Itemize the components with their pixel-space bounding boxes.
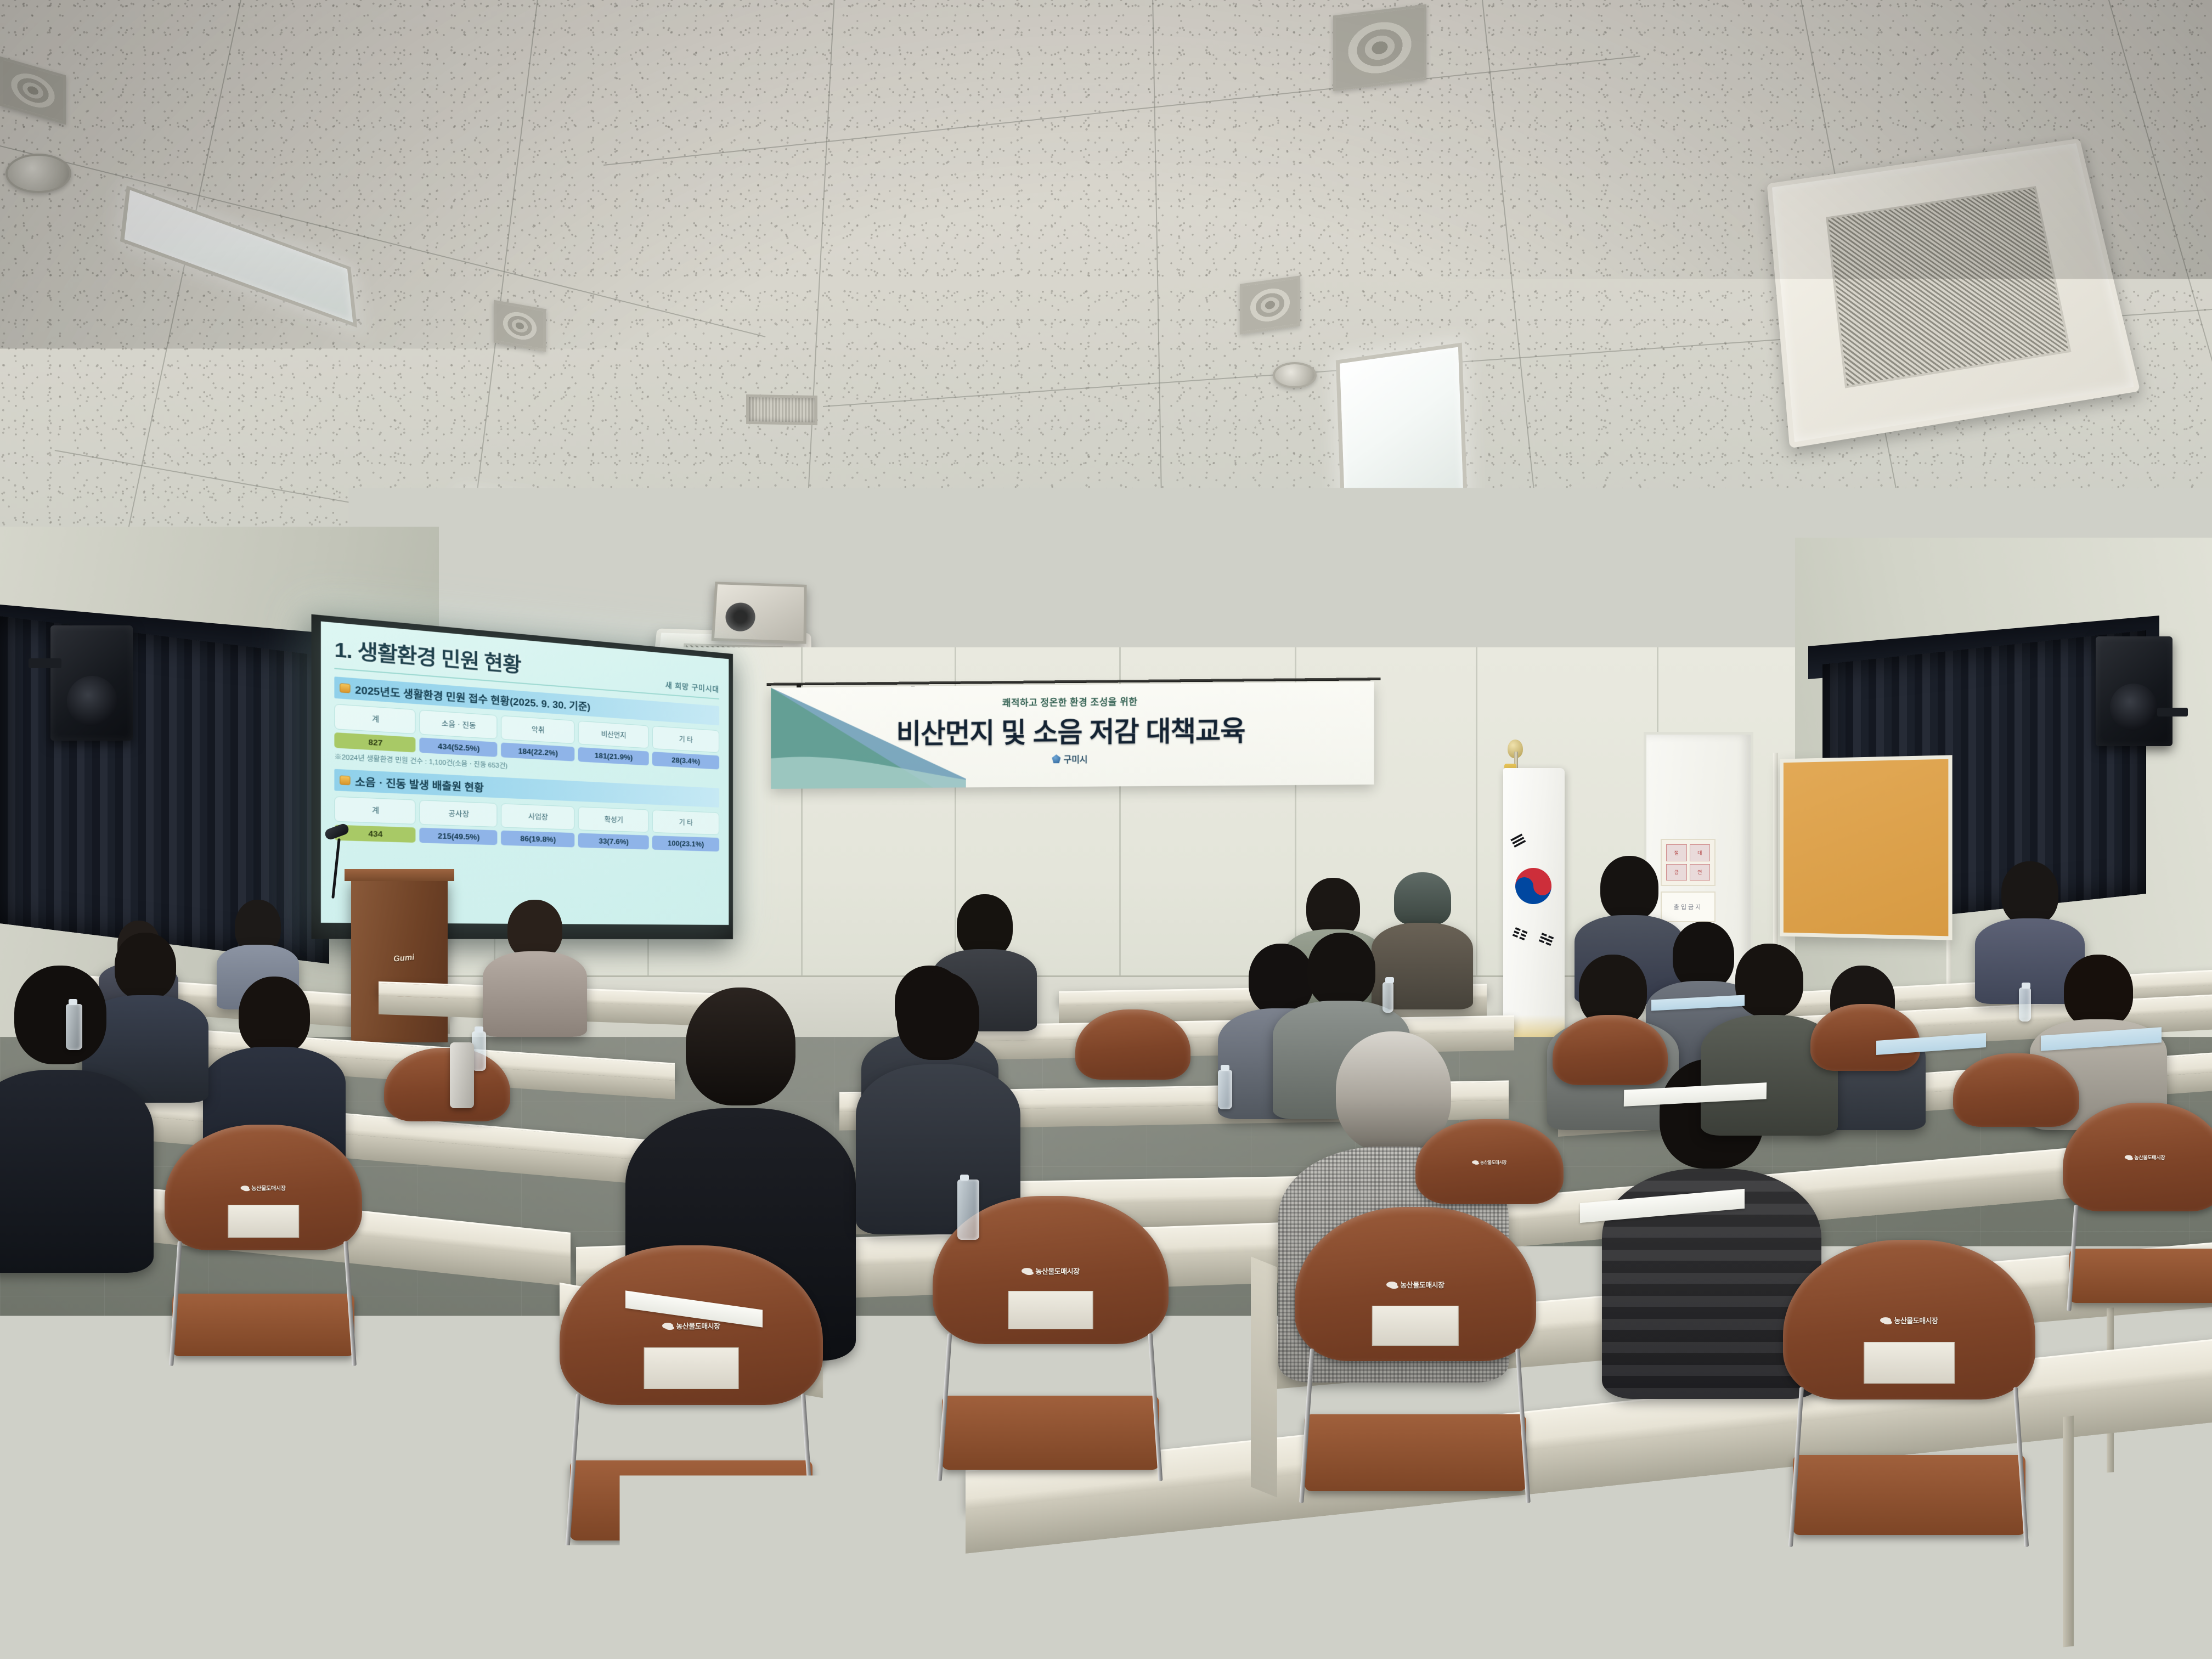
- chair-brand-logo: 농산물도매시장: [1022, 1266, 1079, 1276]
- ceiling-projector: [712, 582, 807, 644]
- chair[interactable]: [1553, 1015, 1668, 1125]
- person-torso: [0, 1070, 154, 1273]
- person-head: [2001, 861, 2058, 925]
- cell-value: 215(49.5%): [420, 828, 497, 845]
- attendee: [483, 900, 587, 1037]
- table-2-col-2: 사업장 86(19.8%): [501, 803, 575, 847]
- banner-text-block: 쾌적하고 정온한 환경 조성을 위한 비산먼지 및 소음 저감 대책교육 구미시: [771, 691, 1374, 768]
- person-head: [1307, 933, 1375, 1007]
- chair-brand-logo: 농산물도매시장: [241, 1184, 286, 1192]
- column-header: 사업장: [501, 803, 575, 830]
- person-torso: [483, 951, 587, 1037]
- ceiling-speaker: [1273, 362, 1317, 388]
- column-header: 비산먼지: [578, 721, 648, 749]
- chair[interactable]: 농산물도매시장: [1783, 1240, 2035, 1547]
- chair[interactable]: 농산물도매시장: [1415, 1119, 1564, 1256]
- ceiling-air-diffuser: [1333, 4, 1426, 92]
- person-head: [2064, 955, 2133, 1028]
- water-bottle[interactable]: [2019, 988, 2031, 1022]
- trigram-gon: [1512, 927, 1528, 942]
- podium: Gumi: [351, 878, 448, 1042]
- trigram-gam: [1538, 933, 1554, 947]
- ceiling-vent-grille: [746, 394, 817, 425]
- banner-organizer-label: 구미시: [1063, 752, 1087, 765]
- wholesale-market-icon: [1880, 1317, 1891, 1323]
- chair-seat: [1793, 1455, 2025, 1535]
- wholesale-market-icon: [1386, 1282, 1397, 1288]
- chair-seat: [172, 1294, 354, 1356]
- wholesale-market-icon: [1472, 1160, 1479, 1164]
- cell-value: 33(7.6%): [578, 833, 648, 849]
- chair-backrest: [1553, 1015, 1668, 1085]
- column-header: 기 타: [652, 810, 719, 835]
- chair-backrest: 농산물도매시장: [560, 1245, 823, 1405]
- chair-seat: [570, 1460, 812, 1541]
- column-header: 공사장: [420, 800, 497, 827]
- wholesale-market-icon: [241, 1186, 250, 1190]
- chair[interactable]: 농산물도매시장: [560, 1245, 823, 1553]
- table-2-col-0: 계 434: [334, 796, 416, 843]
- projector-lens: [725, 602, 756, 632]
- ceiling-light-fixture: [1336, 343, 1468, 524]
- section-2-header-text: 소음ㆍ진동 발생 배출원 현황: [355, 773, 484, 794]
- thermos-tumbler[interactable]: [450, 1042, 474, 1108]
- cell-value: 434(52.5%): [420, 737, 497, 757]
- chair-backrest: 농산물도매시장: [1415, 1119, 1564, 1204]
- trigram-geon: [1510, 834, 1526, 849]
- chair-seat: [942, 1396, 1159, 1470]
- chair[interactable]: 농산물도매시장: [2063, 1103, 2212, 1311]
- chair-brand-logo: 농산물도매시장: [1386, 1279, 1444, 1290]
- speaker-woofer: [67, 676, 117, 726]
- banner-title: 비산먼지 및 소음 저감 대책교육: [771, 708, 1374, 753]
- cell-value: 827: [334, 732, 416, 753]
- chair-backrest: [1953, 1053, 2079, 1127]
- table-1-col-1: 소음ㆍ진동 434(52.5%): [420, 710, 497, 757]
- chair-seat: [1305, 1414, 1527, 1491]
- chair-asset-sticker: [228, 1205, 299, 1237]
- person-head: [686, 988, 795, 1105]
- table-end-panel: [1251, 1256, 1277, 1497]
- chair-brand-text: 농산물도매시장: [676, 1321, 720, 1331]
- ac-grille: [1826, 186, 2072, 388]
- chair-brand-text: 농산물도매시장: [1400, 1279, 1444, 1290]
- table-2-col-1: 공사장 215(49.5%): [420, 800, 497, 845]
- sign-char-3: 연: [1690, 864, 1711, 881]
- chair-brand-logo: 농산물도매시장: [2125, 1154, 2165, 1161]
- chair[interactable]: [1810, 1004, 1920, 1108]
- table-1-col-3: 비산먼지 181(21.9%): [578, 721, 648, 766]
- banner-organizer: 구미시: [771, 749, 1374, 768]
- chair[interactable]: 농산물도매시장: [165, 1125, 362, 1366]
- cork-notice-board: [1780, 755, 1952, 940]
- chair-asset-sticker: [644, 1347, 739, 1389]
- table-1-col-4: 기 타 28(3.4%): [652, 726, 719, 770]
- chair-backrest: [1810, 1004, 1920, 1071]
- person-head: [507, 900, 562, 959]
- slide-title: 1. 생활환경 민원 현황: [334, 633, 521, 678]
- cell-value: 181(21.9%): [578, 747, 648, 765]
- table-leg: [2063, 1416, 2074, 1647]
- speaker-woofer: [2110, 684, 2157, 731]
- water-bottle[interactable]: [1383, 982, 1393, 1013]
- cell-value: 100(23.1%): [652, 836, 719, 851]
- bullet-icon: [340, 775, 350, 785]
- chair-brand-text: 농산물도매시장: [1035, 1266, 1079, 1276]
- attendee: [856, 971, 1020, 1234]
- column-header: 계: [334, 704, 416, 734]
- ceiling-speaker: [5, 154, 71, 193]
- speaker-bracket-right: [2157, 708, 2188, 716]
- cell-value: 184(22.2%): [501, 742, 575, 761]
- slide-logo: 새 희망 구미시대: [665, 679, 719, 694]
- wall-speaker-right: [2096, 636, 2172, 746]
- chair-backrest: [1075, 1009, 1190, 1080]
- table-leg: [1262, 1522, 1273, 1659]
- chair-brand-text: 농산물도매시장: [2135, 1154, 2165, 1161]
- water-bottle[interactable]: [1218, 1070, 1232, 1109]
- chair-brand-logo: 농산물도매시장: [1880, 1315, 1938, 1325]
- table-1-col-0: 계 827: [334, 704, 416, 753]
- person-head: [239, 977, 310, 1054]
- taeguk-symbol: [1515, 868, 1551, 904]
- podium-logo: Gumi: [393, 952, 415, 963]
- water-bottle[interactable]: [957, 1180, 979, 1240]
- wholesale-market-icon: [1022, 1268, 1032, 1274]
- wholesale-market-icon: [662, 1323, 673, 1329]
- person-head: [1735, 944, 1803, 1017]
- chair-backrest: [384, 1048, 510, 1121]
- cell-value: 28(3.4%): [652, 752, 719, 770]
- person-head: [897, 971, 979, 1060]
- wholesale-market-icon: [2125, 1155, 2132, 1160]
- chair-brand-text: 농산물도매시장: [251, 1184, 286, 1192]
- chair[interactable]: [1075, 1009, 1190, 1119]
- chair-asset-sticker: [1372, 1306, 1459, 1346]
- column-header: 계: [334, 796, 416, 825]
- sign-char-1: 대: [1690, 844, 1711, 861]
- chair-brand-logo: 농산물도매시장: [662, 1321, 720, 1331]
- person-head: [1600, 856, 1658, 921]
- person-head: [14, 966, 106, 1064]
- podium-top: [345, 869, 454, 881]
- water-bottle[interactable]: [66, 1004, 82, 1050]
- person-head: [957, 894, 1013, 958]
- person-head-cap: [1394, 872, 1451, 925]
- chair[interactable]: [384, 1048, 510, 1163]
- chair-backrest: 농산물도매시장: [165, 1125, 362, 1250]
- event-banner: 쾌적하고 정온한 환경 조성을 위한 비산먼지 및 소음 저감 대책교육 구미시: [771, 681, 1374, 789]
- chair-brand-text: 농산물도매시장: [1480, 1159, 1506, 1165]
- wall-speaker-left: [50, 625, 133, 741]
- chair-seat: [2069, 1249, 2212, 1303]
- chair-brand-text: 농산물도매시장: [1894, 1315, 1938, 1325]
- chair-backrest: 농산물도매시장: [1783, 1240, 2035, 1400]
- table-1-col-2: 악취 184(22.2%): [501, 715, 575, 761]
- column-header: 기 타: [652, 726, 719, 753]
- cell-value: 86(19.8%): [501, 831, 575, 848]
- gumi-city-logo-icon: [1052, 754, 1060, 763]
- table-2-col-4: 기 타 100(23.1%): [652, 810, 719, 851]
- chair-asset-sticker: [1008, 1291, 1093, 1329]
- column-header: 악취: [501, 715, 575, 744]
- chair[interactable]: [1953, 1053, 2079, 1169]
- ceiling-air-diffuser: [1240, 275, 1300, 334]
- table-2-col-3: 확성기 33(7.6%): [578, 806, 648, 849]
- column-header: 확성기: [578, 806, 648, 833]
- chair-backrest: 농산물도매시장: [2063, 1103, 2212, 1211]
- chair-brand-logo: 농산물도매시장: [1472, 1159, 1506, 1165]
- chair-asset-sticker: [1864, 1342, 1955, 1384]
- conference-room-photo: 1. 생활환경 민원 현황 새 희망 구미시대 2025년도 생활환경 민원 접…: [0, 0, 2212, 1659]
- bullet-icon: [340, 683, 350, 693]
- column-header: 소음ㆍ진동: [420, 710, 497, 740]
- speaker-bracket-left: [29, 658, 61, 668]
- ceiling-air-diffuser: [494, 300, 546, 352]
